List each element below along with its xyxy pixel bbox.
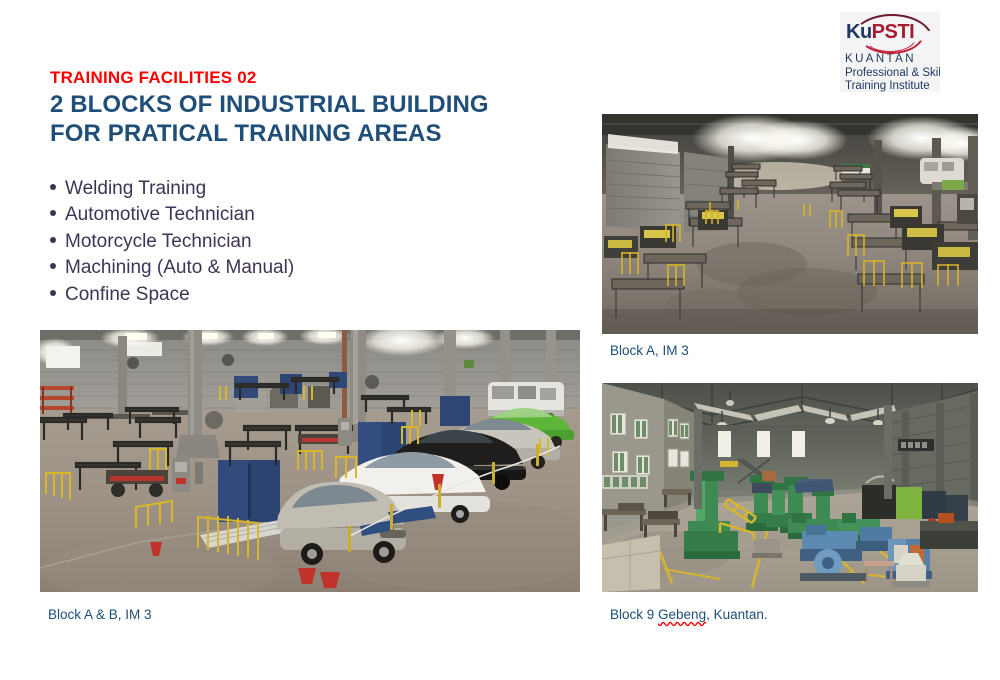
list-item: Motorcycle Technician (50, 229, 294, 255)
kupsti-logo: KuPSTI KUANTAN Professional & Skill Trai… (840, 12, 940, 92)
list-item-label: Motorcycle Technician (65, 231, 252, 252)
page-title-line2: FOR PRATICAL TRAINING AREAS (50, 119, 489, 148)
bullet-dot-icon (50, 210, 56, 216)
photo-welding-hall (602, 114, 978, 334)
training-program-list: Welding Training Automotive Technician M… (50, 176, 294, 308)
caption-suffix: , Kuantan. (706, 607, 768, 622)
photo-automotive-workshop (40, 330, 580, 592)
caption-prefix: Block 9 (610, 607, 658, 622)
caption-welding: Block A, IM 3 (610, 343, 689, 358)
list-item: Machining (Auto & Manual) (50, 255, 294, 281)
bullet-dot-icon (50, 237, 56, 243)
slide-eyebrow: TRAINING FACILITIES 02 (50, 68, 257, 88)
page-title-line1: 2 BLOCKS OF INDUSTRIAL BUILDING (50, 90, 489, 119)
logo-subtitle-line2: Training Institute (845, 80, 930, 92)
bullet-dot-icon (50, 184, 56, 190)
caption-machining: Block 9 Gebeng, Kuantan. (610, 607, 768, 622)
list-item-label: Welding Training (65, 178, 206, 199)
logo-kuantan-text: KUANTAN (845, 53, 916, 65)
logo-mark: KuPSTI (840, 12, 940, 52)
list-item-label: Automotive Technician (65, 204, 255, 225)
list-item: Automotive Technician (50, 202, 294, 228)
list-item-label: Confine Space (65, 284, 190, 305)
list-item-label: Machining (Auto & Manual) (65, 257, 294, 278)
list-item: Confine Space (50, 282, 294, 308)
logo-subtitle-line1: Professional & Skill (845, 67, 940, 79)
photo-machining-workshop (602, 383, 978, 592)
list-item: Welding Training (50, 176, 294, 202)
caption-automotive: Block A & B, IM 3 (48, 607, 152, 622)
bullet-dot-icon (50, 290, 56, 296)
bullet-dot-icon (50, 263, 56, 269)
caption-misspelled-word: Gebeng (658, 607, 706, 622)
page-title: 2 BLOCKS OF INDUSTRIAL BUILDING FOR PRAT… (50, 90, 489, 149)
